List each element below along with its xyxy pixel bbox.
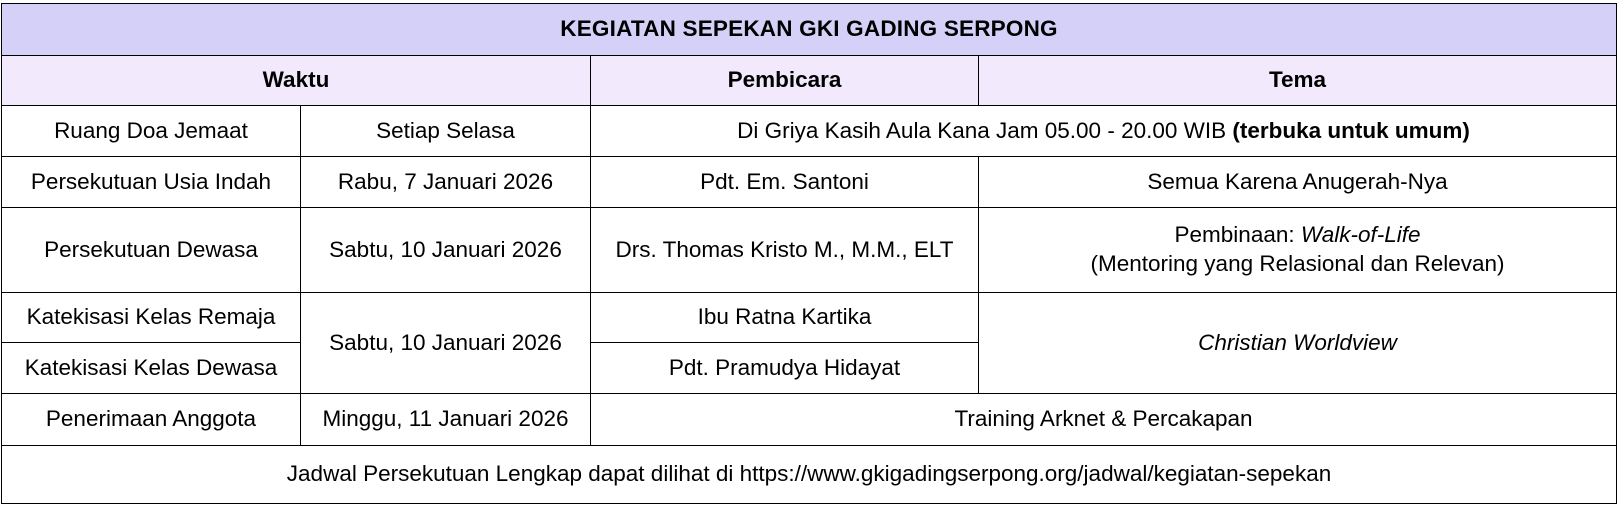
detail-text-emphasis: (terbuka untuk umum) <box>1232 118 1470 143</box>
table-row: Katekisasi Kelas Remaja Sabtu, 10 Januar… <box>2 293 1617 343</box>
theme-prefix: Pembinaan: <box>1175 222 1301 247</box>
activity-date: Setiap Selasa <box>301 106 591 157</box>
activity-date: Sabtu, 10 Januari 2026 <box>301 208 591 293</box>
table-row: Persekutuan Usia Indah Rabu, 7 Januari 2… <box>2 157 1617 208</box>
activity-theme: Christian Worldview <box>979 293 1617 394</box>
schedule-table: KEGIATAN SEPEKAN GKI GADING SERPONG Wakt… <box>1 3 1617 504</box>
activity-name: Katekisasi Kelas Remaja <box>2 293 301 343</box>
footer-row: Jadwal Persekutuan Lengkap dapat dilihat… <box>2 446 1617 504</box>
detail-text: Di Griya Kasih Aula Kana Jam 05.00 - 20.… <box>737 118 1232 143</box>
table-row: Persekutuan Dewasa Sabtu, 10 Januari 202… <box>2 208 1617 293</box>
theme-line-2: (Mentoring yang Relasional dan Relevan) <box>985 250 1610 279</box>
activity-speaker: Ibu Ratna Kartika <box>591 293 979 343</box>
column-header-waktu: Waktu <box>2 56 591 106</box>
table-row: Ruang Doa Jemaat Setiap Selasa Di Griya … <box>2 106 1617 157</box>
activity-date: Sabtu, 10 Januari 2026 <box>301 293 591 394</box>
activity-name: Persekutuan Usia Indah <box>2 157 301 208</box>
activity-name: Katekisasi Kelas Dewasa <box>2 343 301 394</box>
footer-note[interactable]: Jadwal Persekutuan Lengkap dapat dilihat… <box>2 446 1617 504</box>
activity-theme: Pembinaan: Walk-of-Life (Mentoring yang … <box>979 208 1617 293</box>
theme-title-italic: Walk-of-Life <box>1301 222 1421 247</box>
activity-name: Persekutuan Dewasa <box>2 208 301 293</box>
activity-speaker: Pdt. Pramudya Hidayat <box>591 343 979 394</box>
activity-date: Minggu, 11 Januari 2026 <box>301 394 591 446</box>
activity-name: Ruang Doa Jemaat <box>2 106 301 157</box>
theme-line-1: Pembinaan: Walk-of-Life <box>985 221 1610 250</box>
column-header-pembicara: Pembicara <box>591 56 979 106</box>
activity-speaker: Pdt. Em. Santoni <box>591 157 979 208</box>
activity-detail-merged: Di Griya Kasih Aula Kana Jam 05.00 - 20.… <box>591 106 1617 157</box>
activity-speaker: Drs. Thomas Kristo M., M.M., ELT <box>591 208 979 293</box>
table-row: Penerimaan Anggota Minggu, 11 Januari 20… <box>2 394 1617 446</box>
activity-name: Penerimaan Anggota <box>2 394 301 446</box>
title-row: KEGIATAN SEPEKAN GKI GADING SERPONG <box>2 4 1617 56</box>
activity-detail-merged: Training Arknet & Percakapan <box>591 394 1617 446</box>
activity-date: Rabu, 7 Januari 2026 <box>301 157 591 208</box>
header-row: Waktu Pembicara Tema <box>2 56 1617 106</box>
weekly-schedule-poster: KEGIATAN SEPEKAN GKI GADING SERPONG Wakt… <box>0 0 1617 522</box>
column-header-tema: Tema <box>979 56 1617 106</box>
page-title: KEGIATAN SEPEKAN GKI GADING SERPONG <box>2 4 1617 56</box>
activity-theme: Semua Karena Anugerah-Nya <box>979 157 1617 208</box>
